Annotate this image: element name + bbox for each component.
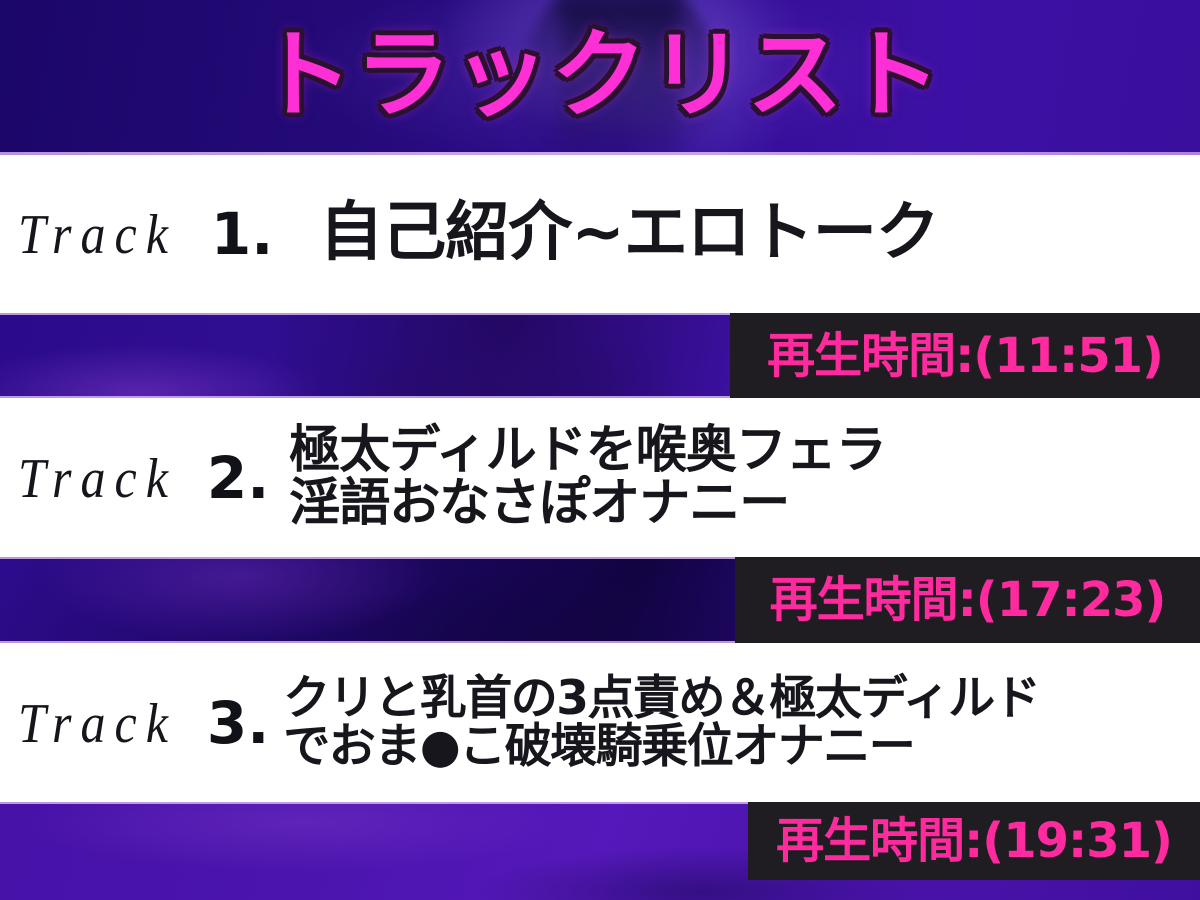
duration-text: 再生時間:(17:23) (770, 576, 1166, 624)
track-title-line: 極太ディルドを喉奥フェラ (289, 425, 885, 477)
track-row: Track 1. 自己紹介~エロトーク (0, 155, 1200, 313)
track-photo-band: 再生時間:(11:51) (0, 313, 1200, 398)
track-number: 1. (211, 205, 273, 263)
track-number: 2. (207, 449, 269, 507)
duration-badge: 再生時間:(11:51) (730, 313, 1200, 398)
track-label: Track (18, 202, 177, 267)
header-banner: トラックリスト (0, 0, 1200, 155)
track-title-line: 淫語おなさぽオナニー (289, 478, 885, 530)
track-title: クリと乳首の3点責め＆極太ディルド でおま●こ破壊騎乗位オナニー (283, 675, 1039, 771)
track-number: 3. (207, 694, 269, 752)
track-photo-band: 再生時間:(19:31) (0, 802, 1200, 900)
duration-text: 再生時間:(11:51) (767, 332, 1163, 380)
track-photo-band: 再生時間:(17:23) (0, 557, 1200, 643)
track-title: 自己紹介~エロトーク (319, 201, 939, 266)
track-row: Track 2. 極太ディルドを喉奥フェラ 淫語おなさぽオナニー (0, 398, 1200, 557)
track-title-line: でおま●こ破壊騎乗位オナニー (283, 723, 1039, 771)
duration-text: 再生時間:(19:31) (776, 817, 1172, 865)
track-row: Track 3. クリと乳首の3点責め＆極太ディルド でおま●こ破壊騎乗位オナニ… (0, 643, 1200, 802)
track-title: 極太ディルドを喉奥フェラ 淫語おなさぽオナニー (289, 425, 885, 529)
tracklist-page: トラックリスト Track 1. 自己紹介~エロトーク 再生時間:(11:51)… (0, 0, 1200, 900)
duration-badge: 再生時間:(17:23) (735, 557, 1200, 643)
duration-badge: 再生時間:(19:31) (748, 802, 1200, 880)
track-label: Track (18, 445, 177, 510)
track-label: Track (18, 690, 177, 755)
page-title: トラックリスト (0, 0, 1200, 155)
track-title-line: 自己紹介~エロトーク (319, 201, 939, 266)
track-title-line: クリと乳首の3点責め＆極太ディルド (283, 675, 1039, 723)
